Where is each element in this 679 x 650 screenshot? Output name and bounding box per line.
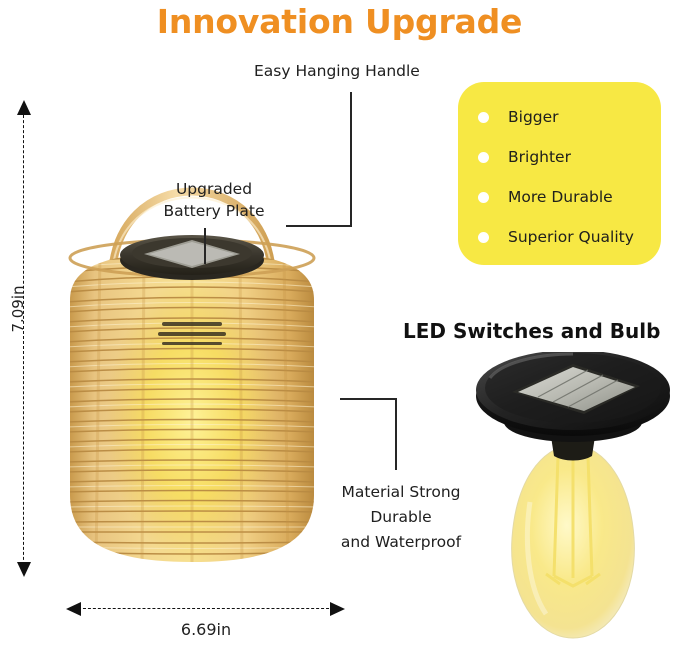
- feature-item-bigger: Bigger: [478, 108, 559, 126]
- bullet-dot-icon: [478, 232, 489, 243]
- callout-upgraded-battery-plate: Upgraded Battery Plate: [155, 178, 273, 222]
- leader-line-battery-plate: [204, 228, 206, 264]
- leader-line-material-horizontal: [340, 398, 397, 400]
- feature-item-brighter: Brighter: [478, 148, 571, 166]
- feature-label: Bigger: [508, 108, 559, 126]
- arrow-left-icon: [66, 602, 81, 616]
- feature-highlights-card: Bigger Brighter More Durable Superior Qu…: [458, 82, 661, 265]
- infographic-canvas: Innovation Upgrade Bigger Brighter More …: [0, 0, 679, 650]
- feature-label: More Durable: [508, 188, 613, 206]
- led-solar-module-and-bulb: [468, 352, 678, 650]
- bullet-dot-icon: [478, 152, 489, 163]
- arrow-up-icon: [17, 100, 31, 115]
- callout-easy-hanging-handle: Easy Hanging Handle: [254, 60, 420, 82]
- feature-label: Brighter: [508, 148, 571, 166]
- arrow-down-icon: [17, 562, 31, 577]
- rattan-solar-lantern: [40, 100, 350, 580]
- leader-line-handle-vertical: [350, 92, 352, 226]
- page-title: Innovation Upgrade: [0, 2, 679, 41]
- heading-led-switches-and-bulb: LED Switches and Bulb: [403, 319, 660, 343]
- bullet-dot-icon: [478, 192, 489, 203]
- width-dimension-line: [78, 608, 334, 609]
- arrow-right-icon: [330, 602, 345, 616]
- leader-line-handle-horizontal: [286, 225, 352, 227]
- feature-item-superior-quality: Superior Quality: [478, 228, 634, 246]
- feature-item-more-durable: More Durable: [478, 188, 613, 206]
- leader-line-material-vertical: [395, 398, 397, 470]
- width-dimension-label: 6.69in: [106, 620, 306, 639]
- lantern-solar-plate: [120, 235, 264, 280]
- callout-material-strong-durable-waterproof: Material Strong Durable and Waterproof: [330, 480, 472, 555]
- bullet-dot-icon: [478, 112, 489, 123]
- height-dimension-label: 7.09in: [9, 269, 27, 349]
- feature-label: Superior Quality: [508, 228, 634, 246]
